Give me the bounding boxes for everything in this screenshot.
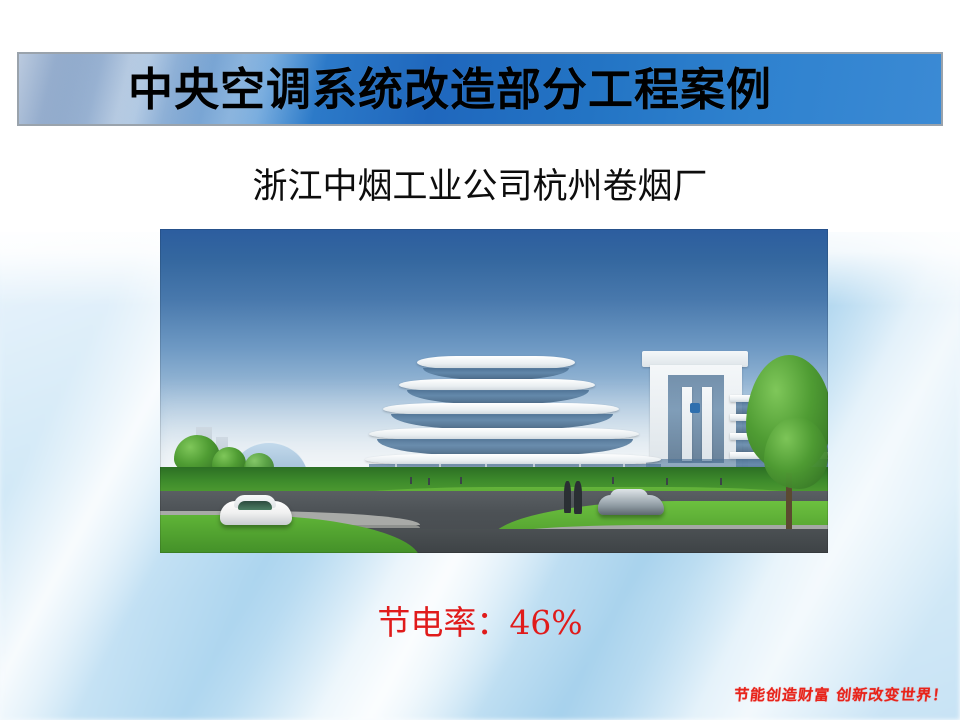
footer-tagline: 节能创造财富 创新改变世界！ (733, 687, 949, 704)
title-banner: 中央空调系统改造部分工程案例 (17, 52, 943, 126)
energy-savings-rate: 节电率：46% (0, 604, 960, 642)
page-title: 中央空调系统改造部分工程案例 (19, 67, 941, 112)
photo-inner-border (160, 229, 828, 553)
project-photo (160, 229, 828, 553)
slide-canvas: 中央空调系统改造部分工程案例 浙江中烟工业公司杭州卷烟厂 (0, 0, 960, 720)
subtitle-company-name: 浙江中烟工业公司杭州卷烟厂 (0, 167, 960, 207)
